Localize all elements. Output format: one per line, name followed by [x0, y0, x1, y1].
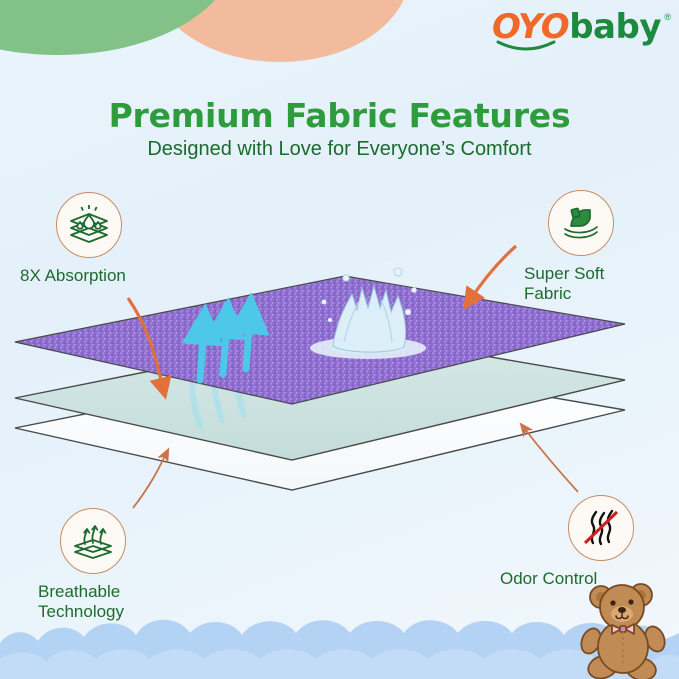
- feature-soft-fabric: Super Soft Fabric: [548, 190, 664, 304]
- feature-breathable-badge: [60, 508, 126, 574]
- feature-soft-fabric-badge: [548, 190, 614, 256]
- brand-logo: OYObaby ®: [492, 10, 661, 58]
- registered-mark: ®: [664, 12, 671, 22]
- page-subtitle: Designed with Love for Everyone’s Comfor…: [0, 138, 679, 161]
- feature-odor-control-badge: [568, 495, 634, 561]
- iron-fabric-icon: [558, 200, 604, 246]
- feature-odor-control: Odor Control: [568, 495, 670, 589]
- feature-absorption-label: 8X Absorption: [20, 266, 180, 286]
- feature-absorption: 8X Absorption: [56, 192, 180, 286]
- logo-smile-icon: [496, 40, 556, 54]
- feature-absorption-badge: [56, 192, 122, 258]
- page-title: Premium Fabric Features: [0, 96, 679, 135]
- no-odor-icon: [578, 505, 624, 551]
- logo-baby-text: baby: [569, 7, 661, 47]
- teddy-bear-mascot: [579, 579, 671, 679]
- infographic-canvas: OYObaby ® Premium Fabric Features Design…: [0, 0, 679, 679]
- cloud-border: [0, 599, 679, 679]
- layers-water-drop-icon: [66, 202, 112, 248]
- feature-soft-fabric-label: Super Soft Fabric: [524, 264, 664, 304]
- layers-up-arrows-icon: [70, 518, 116, 564]
